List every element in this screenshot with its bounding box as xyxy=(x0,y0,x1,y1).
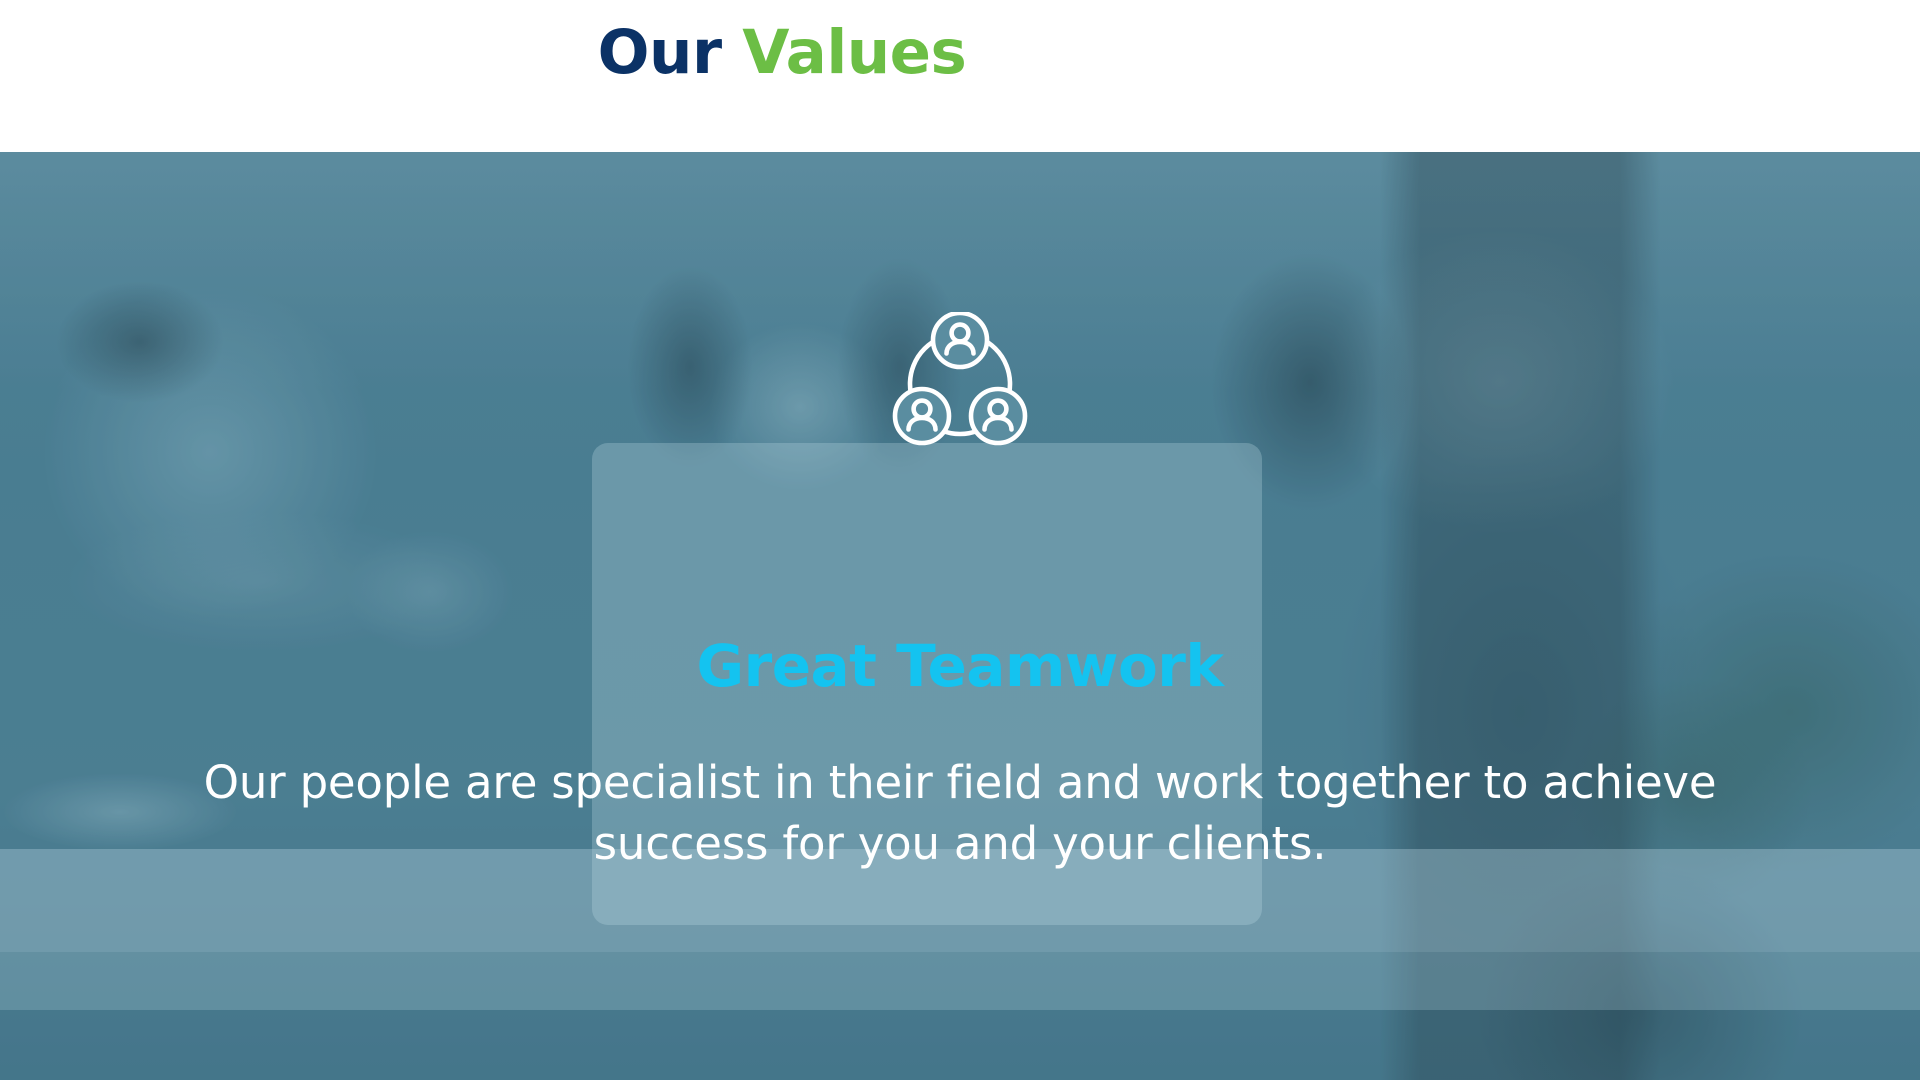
page-title: Our Values xyxy=(0,22,1742,83)
values-hero-section: Great Teamwork Our people are specialist… xyxy=(0,152,1920,1080)
value-card-description: Our people are specialist in their field… xyxy=(190,752,1730,874)
value-card-title: Great Teamwork xyxy=(0,637,1920,695)
teamwork-three-people-icon xyxy=(886,312,1034,452)
page-title-accent: Values xyxy=(742,17,966,88)
value-card-content: Great Teamwork Our people are specialist… xyxy=(0,152,1920,1080)
page-header-band: Our Values xyxy=(0,0,1920,152)
page-title-primary: Our xyxy=(598,17,722,88)
